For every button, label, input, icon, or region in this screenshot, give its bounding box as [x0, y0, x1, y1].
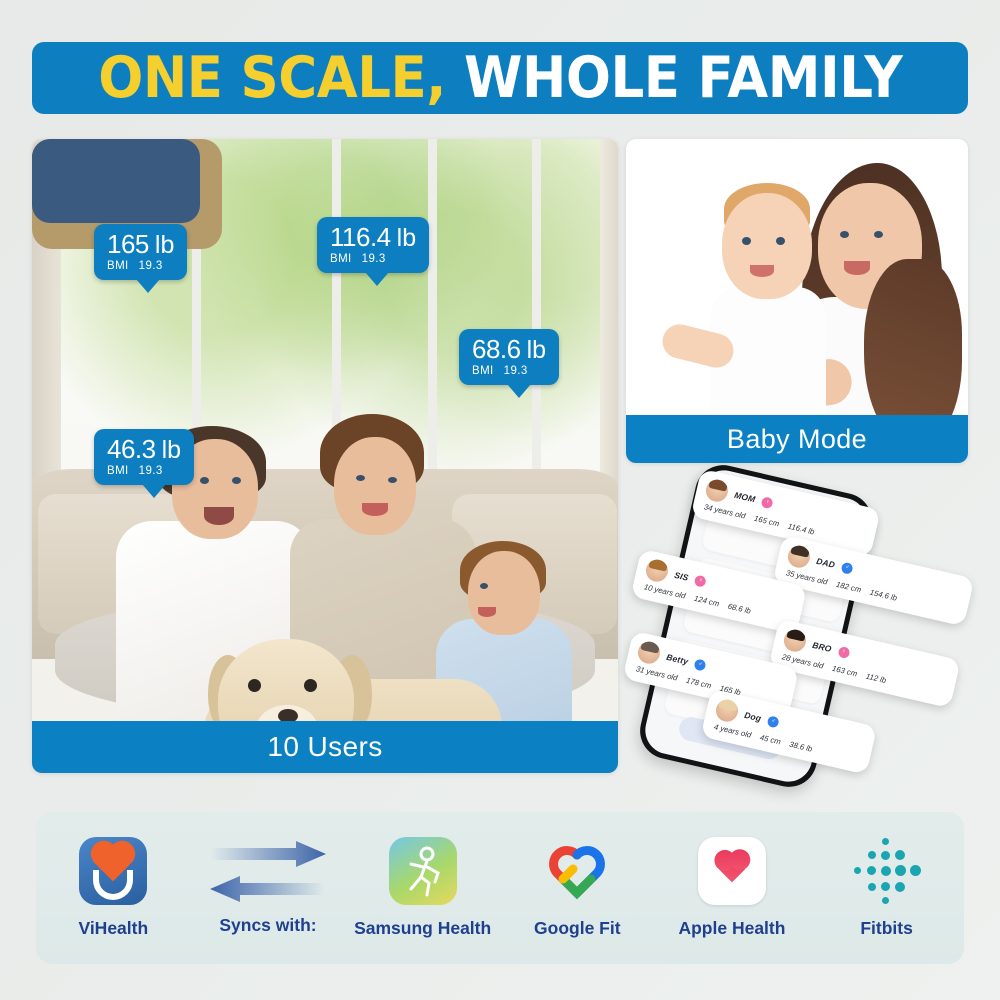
family-photo-panel: 165 lb BMI 19.3 116.4 lb BMI 19.3 68.6: [32, 139, 618, 773]
badge-bmi-value: 19.3: [139, 465, 163, 477]
sync-arrows: [210, 841, 326, 902]
badge-bmi-value: 19.3: [504, 365, 528, 377]
badge-pointer: [142, 484, 166, 498]
logo-item-apple-health: Apple Health: [657, 837, 807, 939]
user-weight: 112 lb: [865, 672, 887, 685]
badge-bmi-label: BMI: [472, 365, 494, 377]
baby-panel-caption: Baby Mode: [626, 415, 968, 463]
gender-badge-icon: ♂: [767, 715, 780, 728]
user-name: SIS: [673, 570, 689, 583]
gender-badge-icon: ♂: [841, 561, 854, 574]
weight-badge-child: 68.6 lb BMI 19.3: [459, 329, 559, 385]
logo-item-fitbits: Fitbits: [812, 837, 962, 939]
samsung-health-app-icon: [389, 837, 457, 905]
badge-weight-unit: lb: [397, 226, 416, 251]
logo-label: Google Fit: [534, 918, 621, 939]
user-height: 124 cm: [693, 594, 720, 609]
avatar: [704, 477, 730, 503]
product-infographic: ONE SCALE, WHOLE FAMILY: [0, 0, 1000, 1000]
gender-badge-icon: ♀: [837, 645, 850, 658]
badge-bmi-label: BMI: [107, 465, 129, 477]
google-fit-heart-icon: [543, 837, 611, 905]
badge-weight-unit: lb: [155, 233, 174, 258]
arrow-right-icon: [210, 841, 326, 867]
header-banner: ONE SCALE, WHOLE FAMILY: [32, 42, 968, 114]
badge-bmi-label: BMI: [107, 260, 129, 272]
logo-label: Fitbits: [860, 918, 913, 939]
header-title-part2: WHOLE FAMILY: [464, 45, 902, 111]
weight-badge-mom: 116.4 lb BMI 19.3: [317, 217, 429, 273]
badge-bmi-value: 19.3: [139, 260, 163, 272]
weight-badge-dad: 165 lb BMI 19.3: [94, 224, 187, 280]
badge-weight-value: 165: [107, 231, 149, 257]
logo-label: Apple Health: [678, 918, 785, 939]
user-weight: 68.6 lb: [727, 602, 752, 616]
user-name: Dog: [743, 710, 762, 724]
syncs-with-label: Syncs with:: [219, 915, 316, 936]
gender-badge-icon: ♀: [761, 496, 774, 509]
avatar: [786, 543, 812, 569]
user-name: BRO: [811, 640, 832, 654]
syncs-with-indicator: Syncs with:: [193, 841, 343, 936]
user-name: DAD: [815, 556, 836, 570]
weight-badge-dog: 46.3 lb BMI 19.3: [94, 429, 194, 485]
arrow-left-icon: [210, 876, 326, 902]
app-phone-mockup: Users Add User MOM ♀ 34 years old 165 cm…: [630, 470, 978, 790]
baby-mode-panel: Baby Mode: [626, 139, 968, 463]
person-boy: [32, 139, 200, 223]
integrations-panel: ViHealth Syncs with:: [36, 812, 964, 964]
vihealth-app-icon: [79, 837, 147, 905]
logo-label: ViHealth: [78, 918, 148, 939]
avatar: [714, 697, 740, 723]
badge-pointer: [136, 279, 160, 293]
user-height: 178 cm: [685, 676, 712, 691]
gender-badge-icon: ♀: [694, 574, 707, 587]
logo-item-google-fit: Google Fit: [502, 837, 652, 939]
avatar: [636, 639, 662, 665]
user-height: 163 cm: [831, 664, 858, 679]
badge-weight-value: 116.4: [330, 224, 391, 250]
avatar: [782, 627, 808, 653]
running-figure-icon: [389, 837, 457, 905]
badge-weight-value: 46.3: [107, 436, 156, 462]
badge-weight-unit: lb: [527, 338, 546, 363]
avatar: [644, 557, 670, 583]
badge-weight-value: 68.6: [472, 336, 521, 362]
badge-pointer: [507, 384, 531, 398]
badge-bmi-value: 19.3: [362, 253, 386, 265]
user-height: 182 cm: [835, 580, 862, 595]
user-height: 165 cm: [753, 514, 780, 529]
fitbit-dots-icon: [853, 837, 921, 905]
heart-icon: [717, 853, 747, 883]
google-fit-icon: [543, 837, 611, 905]
header-title-part1: ONE SCALE,: [98, 45, 446, 111]
user-name: Betty: [665, 652, 689, 667]
gender-badge-icon: ♂: [694, 658, 707, 671]
badge-bmi-label: BMI: [330, 253, 352, 265]
logo-item-samsung-health: Samsung Health: [348, 837, 498, 939]
logo-item-vihealth: ViHealth: [38, 837, 188, 939]
user-name: MOM: [733, 490, 756, 505]
apple-health-app-icon: [698, 837, 766, 905]
badge-weight-unit: lb: [162, 438, 181, 463]
user-height: 45 cm: [759, 733, 782, 747]
badge-pointer: [365, 272, 389, 286]
header-title: ONE SCALE, WHOLE FAMILY: [98, 50, 902, 107]
logo-label: Samsung Health: [354, 918, 491, 939]
family-panel-caption: 10 Users: [32, 721, 618, 773]
user-weight: 38.6 lb: [788, 740, 813, 754]
